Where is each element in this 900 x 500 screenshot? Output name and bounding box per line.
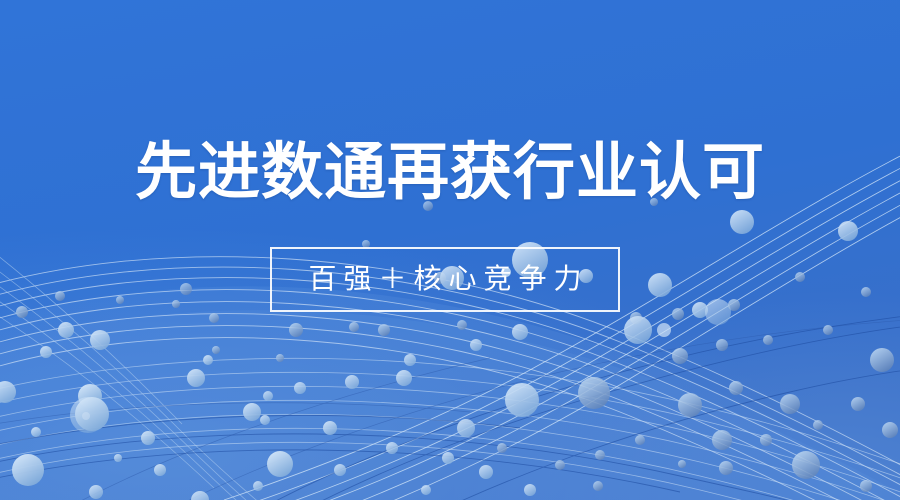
subtitle-text: 百强＋核心竞争力 [301,265,588,295]
promo-banner: 先进数通再获行业认可 百强＋核心竞争力 [0,0,900,500]
subtitle-badge: 百强＋核心竞争力 [270,247,620,312]
page-title: 先进数通再获行业认可 [0,136,900,210]
banner-content: 先进数通再获行业认可 百强＋核心竞争力 [0,0,900,500]
